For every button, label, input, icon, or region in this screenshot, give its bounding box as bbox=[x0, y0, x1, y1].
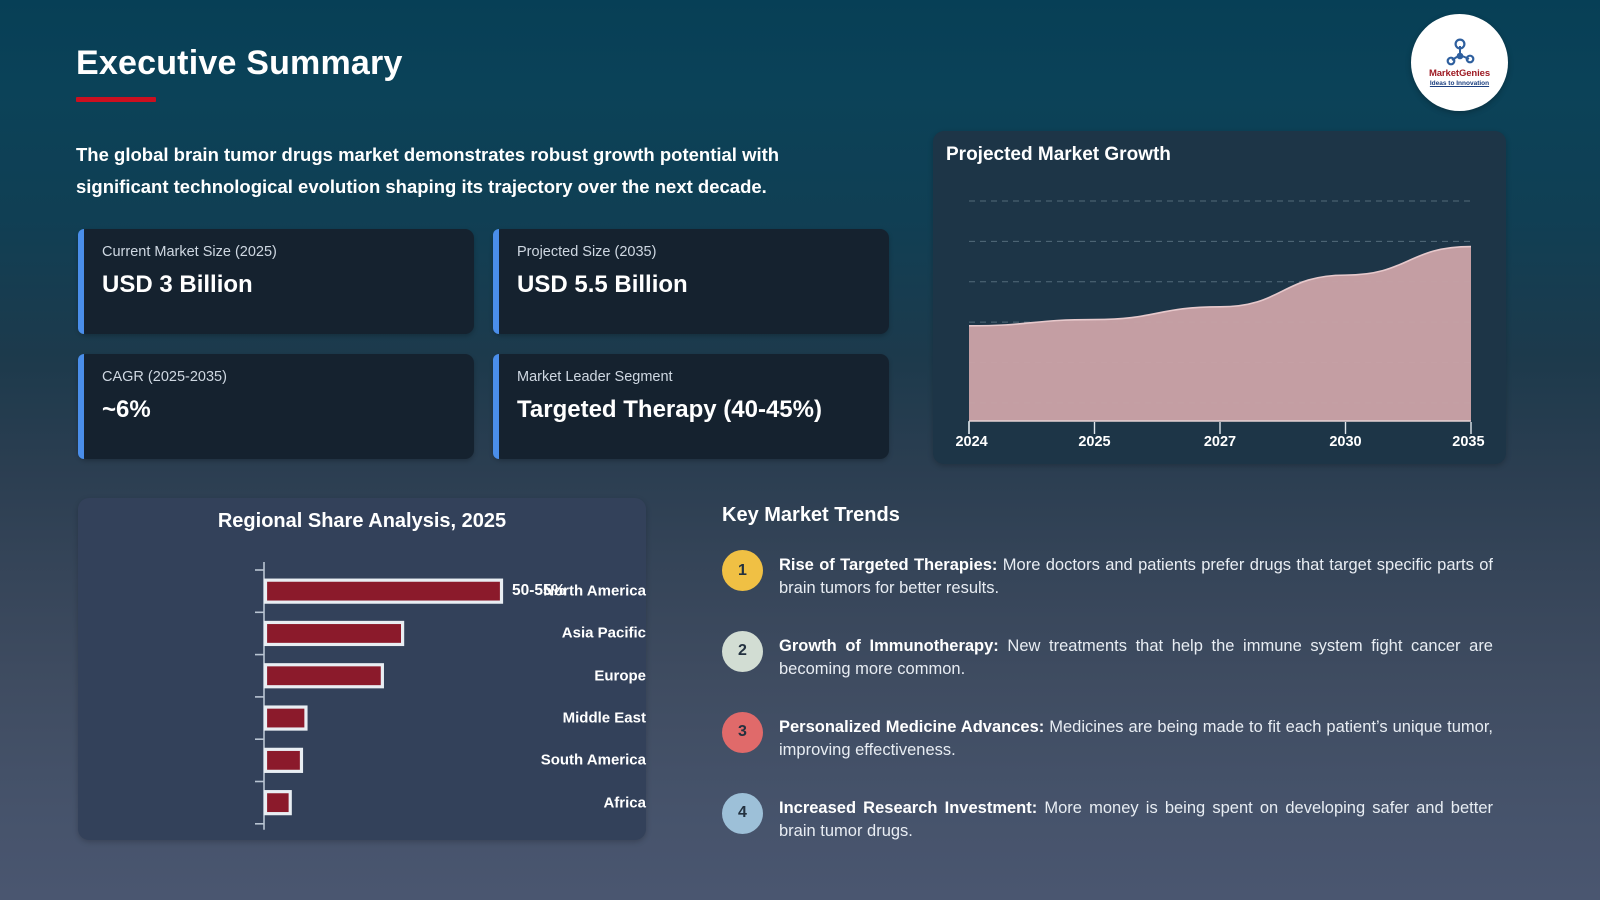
growth-x-tick-2035: 2035 bbox=[1452, 434, 1484, 450]
trend-heading: Growth of Immunotherapy: bbox=[779, 637, 1007, 655]
projected-market-growth-card: Projected Market Growth 2024202520272030… bbox=[933, 131, 1506, 464]
metric-value: ~6% bbox=[102, 398, 474, 422]
metric-value: USD 5.5 Billion bbox=[517, 273, 889, 297]
trends-list: 1Rise of Targeted Therapies: More doctor… bbox=[722, 554, 1497, 843]
logo-tagline: Ideas to Innovation bbox=[1430, 81, 1489, 88]
key-market-trends: Key Market Trends 1Rise of Targeted Ther… bbox=[722, 505, 1497, 843]
page-title: Executive Summary bbox=[76, 44, 403, 83]
trend-item: 2Growth of Immunotherapy: New treatments… bbox=[722, 635, 1497, 682]
bar-category-label: Asia Pacific bbox=[476, 625, 646, 642]
trend-heading: Personalized Medicine Advances: bbox=[779, 718, 1049, 736]
growth-x-tick-2025: 2025 bbox=[1078, 434, 1110, 450]
trend-text: Increased Research Investment: More mone… bbox=[779, 797, 1493, 844]
trend-text: Growth of Immunotherapy: New treatments … bbox=[779, 635, 1493, 682]
growth-x-axis-labels: 20242025202720302035 bbox=[933, 434, 1506, 456]
card-accent-bar bbox=[493, 229, 499, 334]
card-accent-bar bbox=[493, 354, 499, 459]
growth-x-tick-2024: 2024 bbox=[955, 434, 987, 450]
trend-heading: Rise of Targeted Therapies: bbox=[779, 556, 1003, 574]
trend-item: 3Personalized Medicine Advances: Medicin… bbox=[722, 716, 1497, 763]
trend-text: Rise of Targeted Therapies: More doctors… bbox=[779, 554, 1493, 601]
bar-category-label: South America bbox=[476, 752, 646, 769]
growth-area-chart bbox=[933, 131, 1506, 464]
metric-card-cagr: CAGR (2025-2035) ~6% bbox=[78, 354, 474, 459]
trend-item: 1Rise of Targeted Therapies: More doctor… bbox=[722, 554, 1497, 601]
metric-value: USD 3 Billion bbox=[102, 273, 474, 297]
metric-value: Targeted Therapy (40-45%) bbox=[517, 398, 889, 422]
trend-item: 4Increased Research Investment: More mon… bbox=[722, 797, 1497, 844]
metric-label: Market Leader Segment bbox=[517, 370, 889, 385]
metric-label: Projected Size (2035) bbox=[517, 245, 889, 260]
trend-text: Personalized Medicine Advances: Medicine… bbox=[779, 716, 1493, 763]
logo-name: MarketGenies bbox=[1429, 69, 1490, 79]
bar-value-label: 50-55% bbox=[512, 582, 565, 600]
brand-logo: MarketGenies Ideas to Innovation bbox=[1411, 14, 1508, 111]
bar-category-label: Africa bbox=[476, 794, 646, 811]
bar-category-label: Middle East bbox=[476, 710, 646, 727]
metric-card-projected-size: Projected Size (2035) USD 5.5 Billion bbox=[493, 229, 889, 334]
trend-heading: Increased Research Investment: bbox=[779, 799, 1044, 817]
slide-root: Executive Summary MarketGenies Ideas to … bbox=[0, 0, 1600, 900]
card-accent-bar bbox=[78, 354, 84, 459]
bar-category-label: Europe bbox=[476, 667, 646, 684]
trend-number-badge: 2 bbox=[722, 631, 763, 672]
trend-number-badge: 1 bbox=[722, 550, 763, 591]
metric-label: CAGR (2025-2035) bbox=[102, 370, 474, 385]
trend-number-badge: 4 bbox=[722, 793, 763, 834]
trend-number-badge: 3 bbox=[722, 712, 763, 753]
growth-x-tick-2027: 2027 bbox=[1204, 434, 1236, 450]
card-accent-bar bbox=[78, 229, 84, 334]
page-header: Executive Summary bbox=[76, 44, 403, 102]
regional-share-card: Regional Share Analysis, 2025 North Amer… bbox=[78, 498, 646, 840]
metric-card-current-market-size: Current Market Size (2025) USD 3 Billion bbox=[78, 229, 474, 334]
title-underline-rule bbox=[76, 97, 156, 102]
metric-cards: Current Market Size (2025) USD 3 Billion… bbox=[78, 229, 890, 459]
network-nodes-icon bbox=[1443, 38, 1477, 68]
intro-paragraph: The global brain tumor drugs market demo… bbox=[76, 139, 866, 203]
metric-label: Current Market Size (2025) bbox=[102, 245, 474, 260]
trends-title: Key Market Trends bbox=[722, 505, 1497, 525]
growth-x-tick-2030: 2030 bbox=[1329, 434, 1361, 450]
metric-card-market-leader-segment: Market Leader Segment Targeted Therapy (… bbox=[493, 354, 889, 459]
